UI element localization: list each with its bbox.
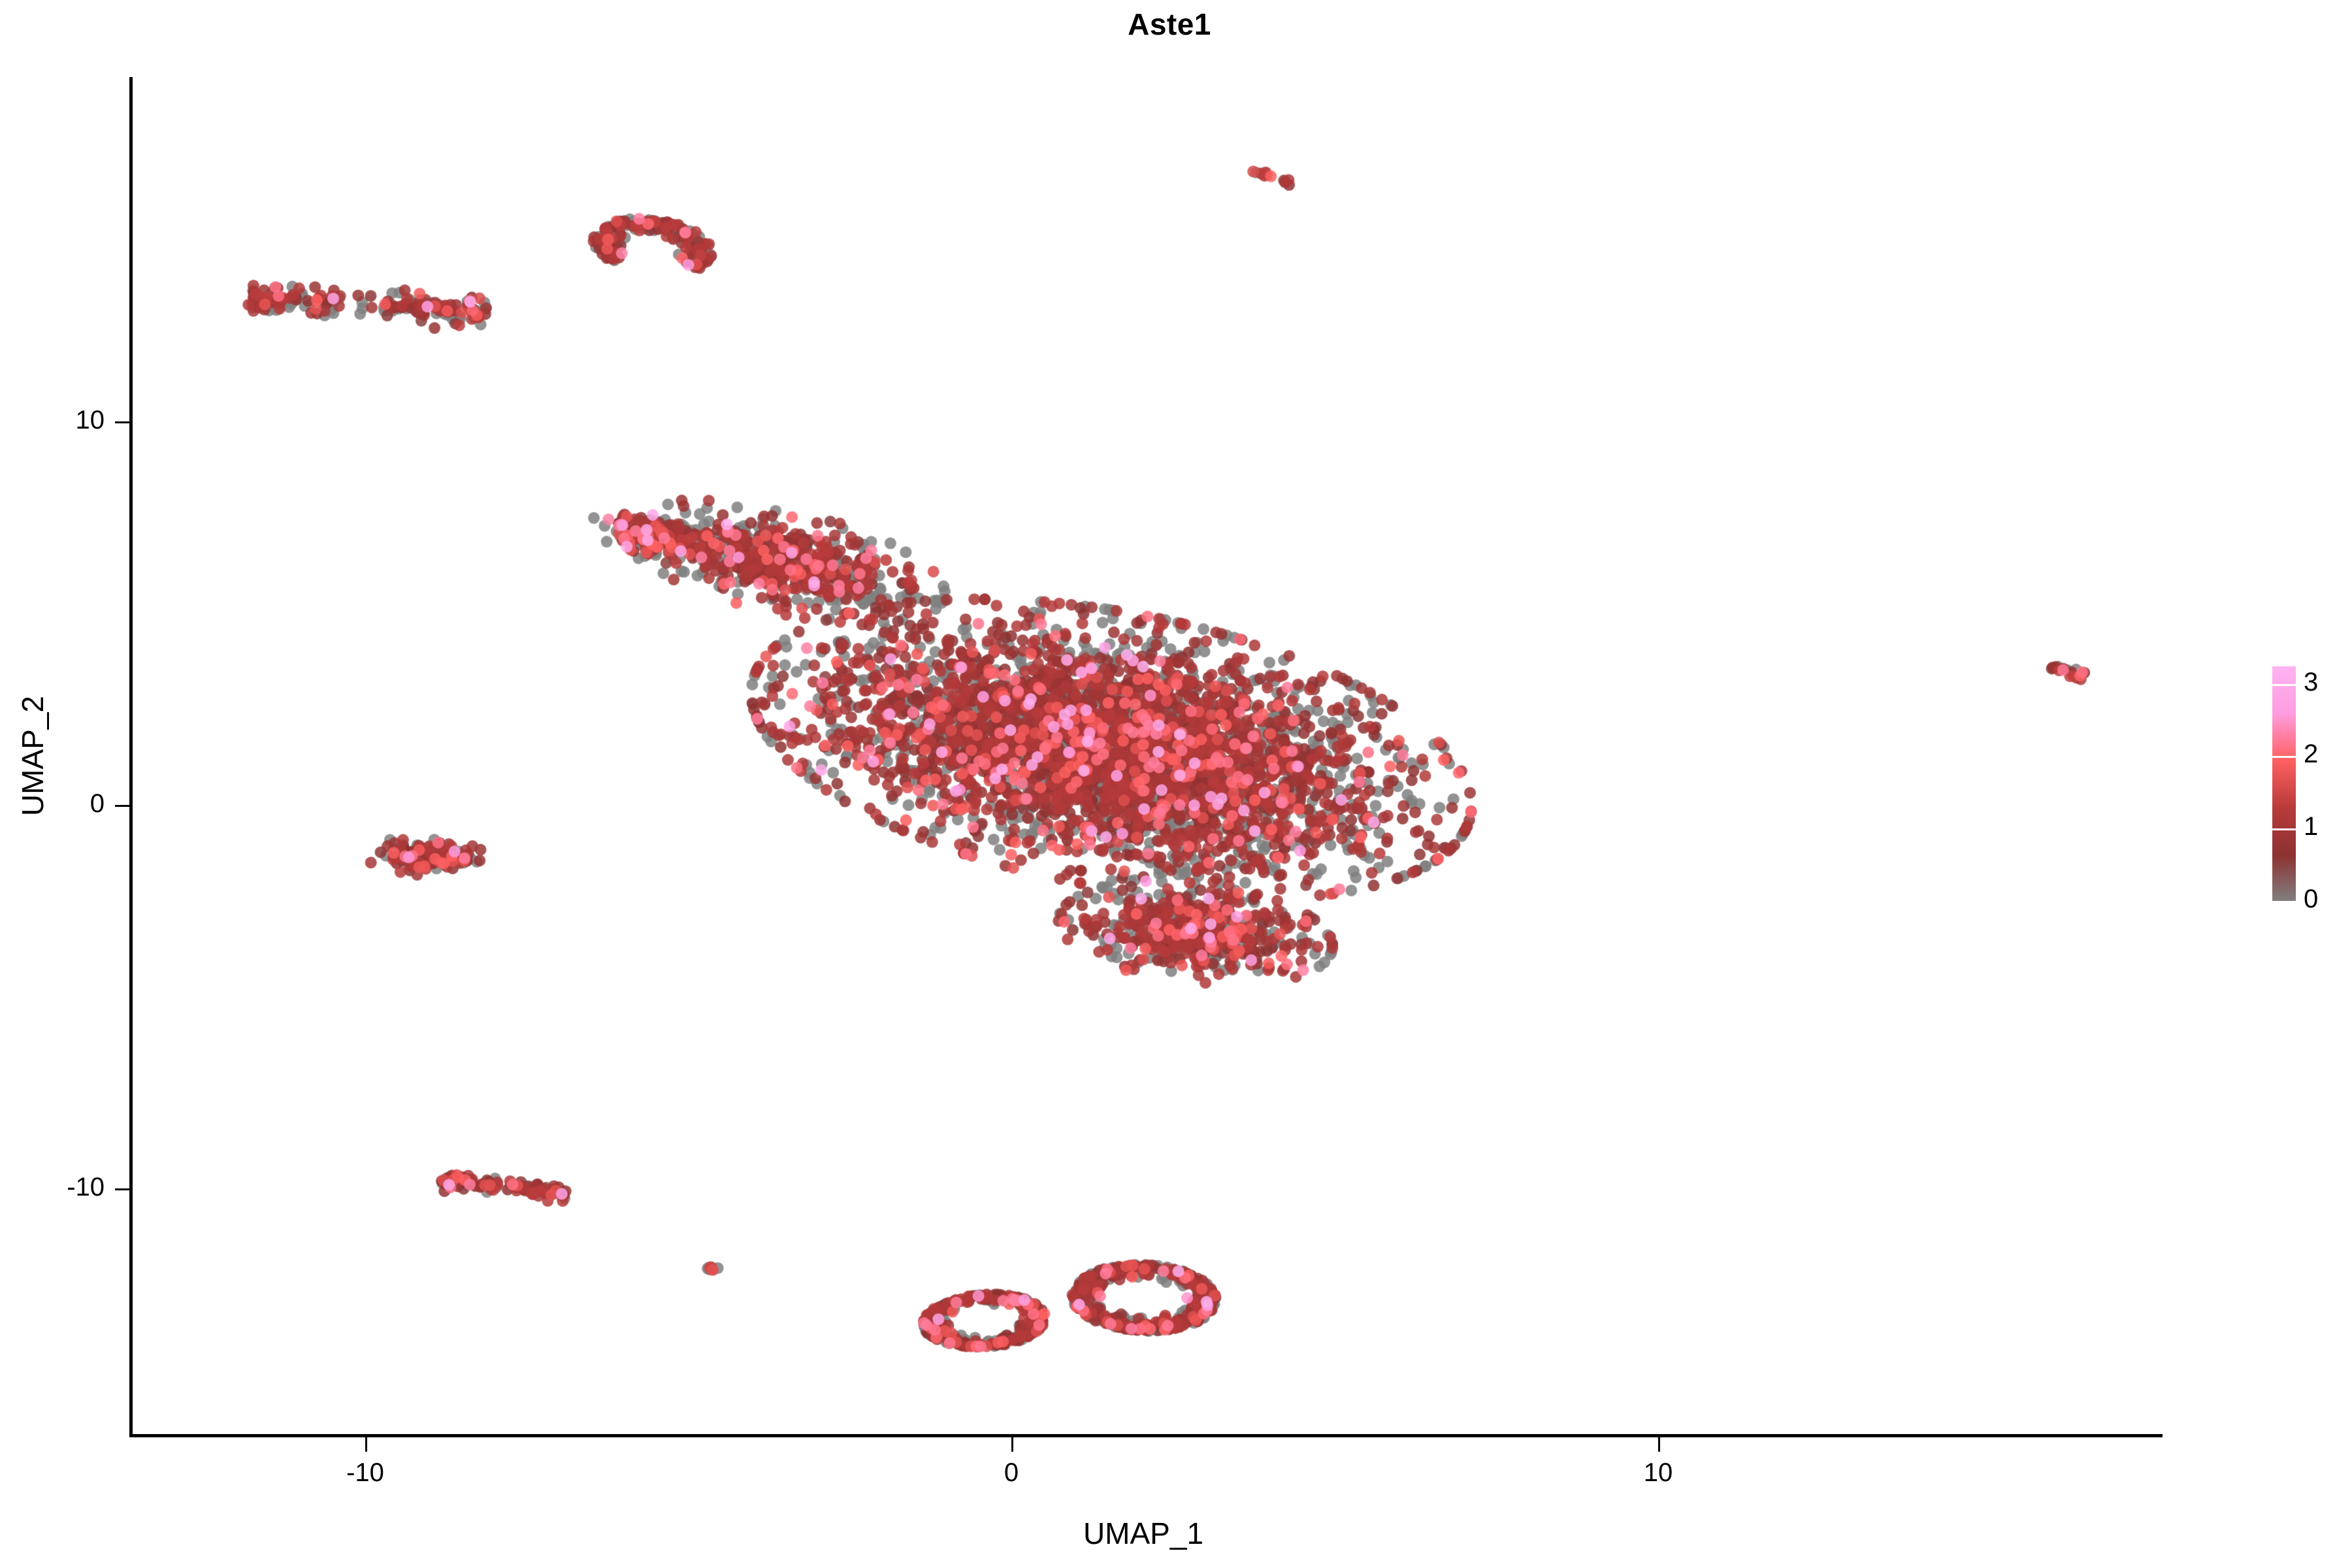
x-tick-mark — [1658, 1437, 1660, 1452]
x-tick-mark — [1011, 1437, 1013, 1452]
legend-label: 3 — [2304, 669, 2318, 695]
y-tick-mark — [115, 1188, 129, 1190]
page-title: Aste1 — [0, 7, 2339, 42]
x-tick-mark — [365, 1437, 367, 1452]
plot-panel — [131, 78, 2163, 1434]
legend-label: 2 — [2304, 741, 2318, 767]
y-tick-label: -10 — [0, 1173, 105, 1202]
color-legend: 3 2 1 0 — [2267, 653, 2352, 915]
legend-label: 1 — [2304, 813, 2318, 840]
x-tick-label: 10 — [1593, 1458, 1723, 1488]
x-axis-title: UMAP_1 — [0, 1516, 2319, 1551]
figure-root: Aste1 -10 0 10 10 0 -10 UMAP_1 UMAP_2 3 … — [0, 0, 2352, 1568]
x-axis-line — [129, 1434, 2163, 1437]
colorbar-gradient — [2272, 666, 2296, 902]
x-tick-label: -10 — [300, 1458, 431, 1488]
colorbar-tick — [2272, 901, 2296, 903]
y-tick-label: 10 — [0, 406, 105, 435]
scatter-plot-canvas — [131, 78, 2163, 1434]
x-tick-label: 0 — [946, 1458, 1077, 1488]
y-axis-line — [129, 77, 133, 1437]
colorbar-tick — [2272, 756, 2296, 758]
colorbar-tick — [2272, 828, 2296, 830]
legend-label: 0 — [2304, 886, 2318, 912]
y-tick-mark — [115, 421, 129, 423]
y-tick-mark — [115, 805, 129, 807]
y-axis-title: UMAP_2 — [15, 684, 50, 828]
colorbar-tick — [2272, 684, 2296, 686]
